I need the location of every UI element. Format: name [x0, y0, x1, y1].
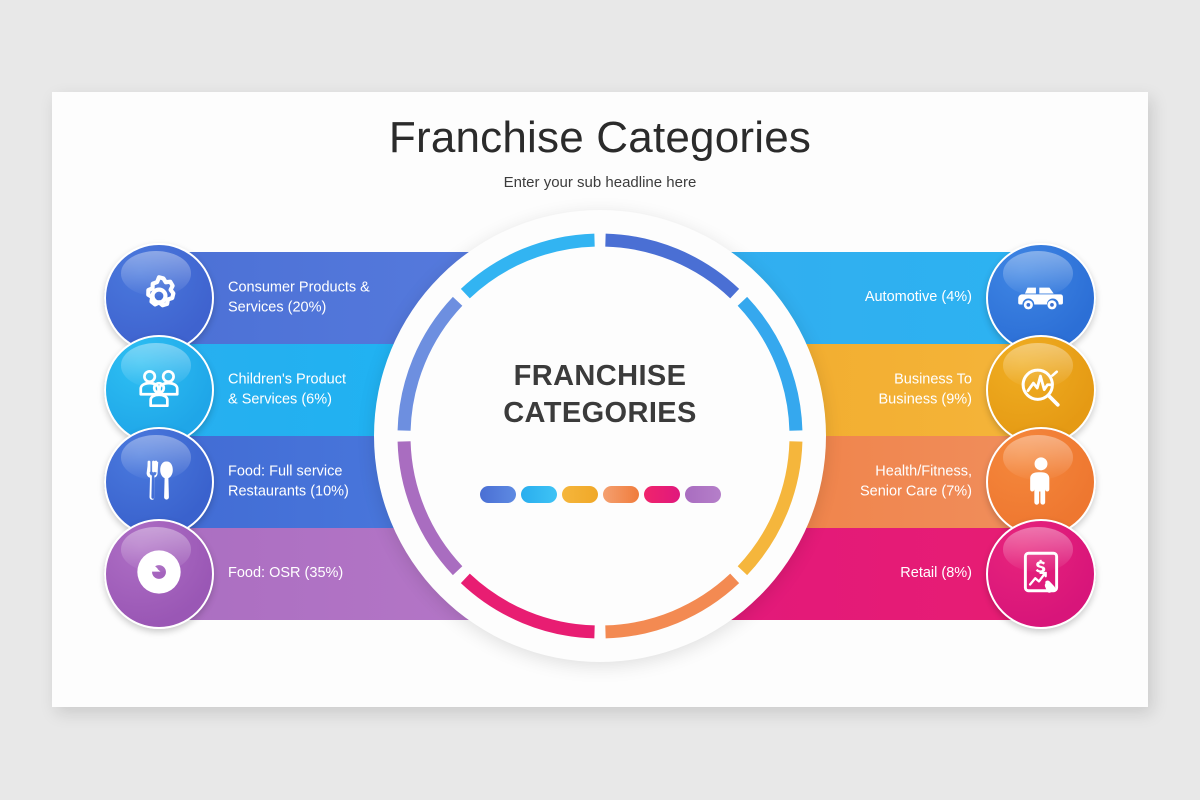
pill-blue: [480, 486, 516, 503]
category-label: Business To Business (9%): [879, 370, 972, 409]
donut-segment[interactable]: [605, 240, 734, 294]
donut-segment[interactable]: [404, 441, 458, 570]
donut-segment[interactable]: [465, 240, 594, 294]
slide-card: Franchise Categories Enter your sub head…: [52, 92, 1148, 707]
category-icon-bubble[interactable]: [104, 519, 214, 629]
gear-icon: [134, 271, 184, 326]
car-icon: [1014, 269, 1068, 328]
donut-segment[interactable]: [742, 441, 796, 570]
category-label: Food: Full service Restaurants (10%): [228, 462, 349, 501]
fork-spoon-icon: [135, 456, 183, 509]
magnifier-chart-icon: [1015, 362, 1067, 419]
donut-segment[interactable]: [465, 578, 594, 632]
family-icon: [134, 363, 184, 418]
category-label: Children's Product & Services (6%): [228, 370, 346, 409]
page-title: Franchise Categories: [52, 114, 1148, 162]
category-label: Consumer Products & Services (20%): [228, 278, 370, 317]
tablet-chart-icon: [1016, 547, 1066, 602]
legend-pill-strip: [374, 486, 826, 503]
donut-ring: [374, 210, 826, 662]
page-subtitle: Enter your sub headline here: [52, 174, 1148, 191]
category-label: Retail (8%): [900, 564, 972, 584]
pill-sky: [521, 486, 557, 503]
category-label: Automotive (4%): [865, 288, 972, 308]
donut-chart-icon: [133, 546, 185, 603]
header-block: Franchise Categories Enter your sub head…: [52, 114, 1148, 191]
category-icon-bubble[interactable]: [986, 519, 1096, 629]
pill-purple: [685, 486, 721, 503]
pill-orange: [603, 486, 639, 503]
pill-pink: [644, 486, 680, 503]
category-label: Health/Fitness, Senior Care (7%): [860, 462, 972, 501]
donut-chart: FRANCHISE CATEGORIES: [374, 210, 826, 662]
category-label: Food: OSR (35%): [228, 564, 343, 584]
donut-center-label: FRANCHISE CATEGORIES: [374, 358, 826, 431]
person-icon: [1019, 455, 1063, 510]
donut-segment[interactable]: [605, 578, 734, 632]
pill-amber: [562, 486, 598, 503]
